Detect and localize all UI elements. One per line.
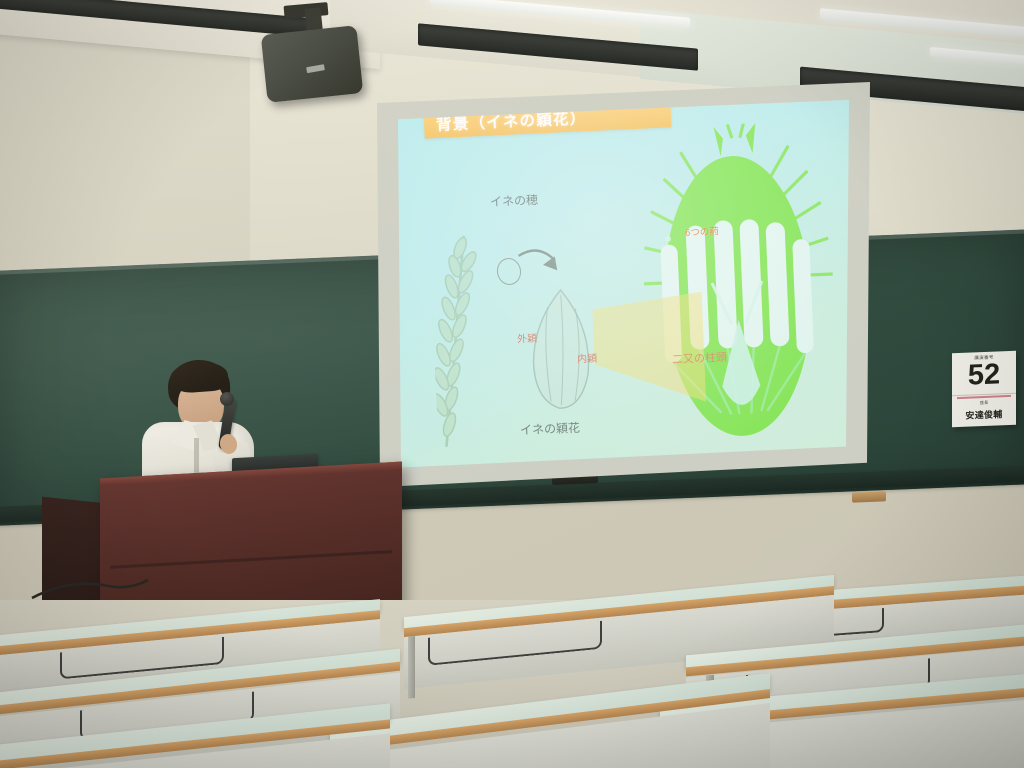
desk-leg	[408, 636, 415, 699]
ceiling-speaker	[261, 25, 364, 103]
session-sign: 講演番号 52 座長 安達俊輔	[952, 351, 1016, 428]
label-lemma: 外穎	[517, 330, 538, 346]
label-panicle: イネの穂	[490, 191, 539, 210]
sign-role: 座長	[954, 399, 1014, 407]
podium-groove	[110, 550, 392, 569]
sign-chair-name: 安達俊輔	[954, 407, 1014, 422]
screen-surface: 背景（イネの穎花） イネの穂 イネの穎花 外穎 内穎 6つの葯 二又の柱頭	[372, 82, 872, 487]
sign-number: 52	[954, 360, 1014, 391]
rice-panicle-drawing	[429, 231, 496, 451]
label-stigma: 二又の柱頭	[672, 349, 728, 367]
rice-floret-diagram	[627, 120, 845, 448]
chalkboard-eraser	[852, 491, 886, 502]
lecture-hall-photo: 講演番号 52 座長 安達俊輔	[0, 0, 1024, 768]
label-palea: 内穎	[577, 350, 598, 366]
floor-cable	[30, 572, 150, 602]
speaker-logo	[306, 64, 325, 73]
label-spikelet: イネの穎花	[520, 419, 581, 438]
presenter-hair-front	[169, 360, 229, 394]
session-sign-bottom: 座長 安達俊輔	[952, 394, 1016, 428]
session-sign-top: 講演番号 52	[952, 351, 1016, 397]
pointer-arrow	[516, 244, 566, 284]
presentation-slide: 背景（イネの穎花） イネの穂 イネの穎花 外穎 内穎 6つの葯 二又の柱頭	[372, 82, 872, 487]
projection-screen: 背景（イネの穎花） イネの穂 イネの穎花 外穎 内穎 6つの葯 二又の柱頭	[372, 82, 872, 487]
label-anthers: 6つの葯	[685, 223, 719, 238]
